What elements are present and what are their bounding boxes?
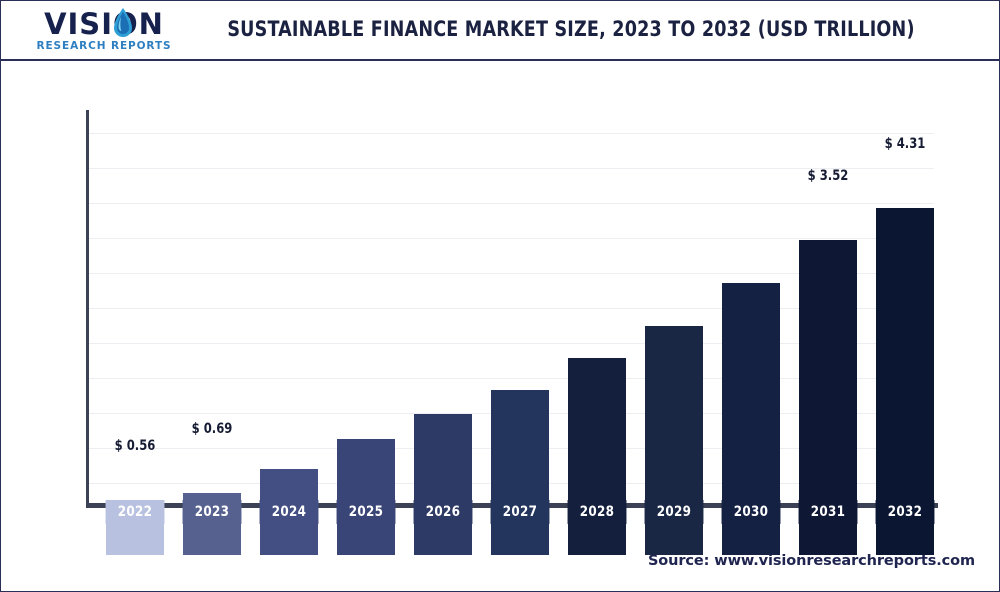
bar-2026[interactable]: [414, 414, 472, 555]
source-attribution: Source: www.visionresearchreports.com: [648, 553, 975, 569]
x-axis-category-labels: 2022202320242025202620272028202920302031…: [1, 500, 1000, 526]
vision-research-reports-logo: VISION RESEARCH REPORTS: [34, 7, 174, 55]
water-droplet-icon: [112, 8, 134, 40]
year-badge-2023[interactable]: 2023: [183, 500, 242, 524]
logo-wordmark: VISION: [34, 9, 174, 39]
bar-2025[interactable]: [337, 439, 395, 555]
bar-value-label-2031: $ 3.52: [787, 168, 870, 184]
bar-value-label-2022: $ 0.56: [94, 438, 177, 454]
year-badge-2032[interactable]: 2032: [876, 500, 935, 524]
chart-page: VISION RESEARCH REPORTS SUSTAINABLE FINA…: [0, 0, 1000, 592]
bar-value-label-2023: $ 0.69: [171, 421, 254, 437]
logo-subtitle: RESEARCH REPORTS: [34, 40, 174, 52]
page-header: VISION RESEARCH REPORTS SUSTAINABLE FINA…: [1, 1, 1000, 61]
page-title: SUSTAINABLE FINANCE MARKET SIZE, 2023 TO…: [218, 17, 925, 41]
bar-chart: $ 0.56$ 0.69$ 3.52$ 4.31: [1, 63, 1000, 533]
plot-area: $ 0.56$ 0.69$ 3.52$ 4.31: [89, 113, 937, 555]
bar-2027[interactable]: [491, 390, 549, 555]
year-badge-2029[interactable]: 2029: [645, 500, 704, 524]
year-badge-2027[interactable]: 2027: [491, 500, 550, 524]
year-badge-2024[interactable]: 2024: [260, 500, 319, 524]
year-badge-2025[interactable]: 2025: [337, 500, 396, 524]
bar-value-label-2032: $ 4.31: [864, 136, 947, 152]
year-badge-2028[interactable]: 2028: [568, 500, 627, 524]
year-badge-2031[interactable]: 2031: [799, 500, 858, 524]
year-badge-2026[interactable]: 2026: [414, 500, 473, 524]
year-badge-2030[interactable]: 2030: [722, 500, 781, 524]
year-badge-2022[interactable]: 2022: [106, 500, 165, 524]
